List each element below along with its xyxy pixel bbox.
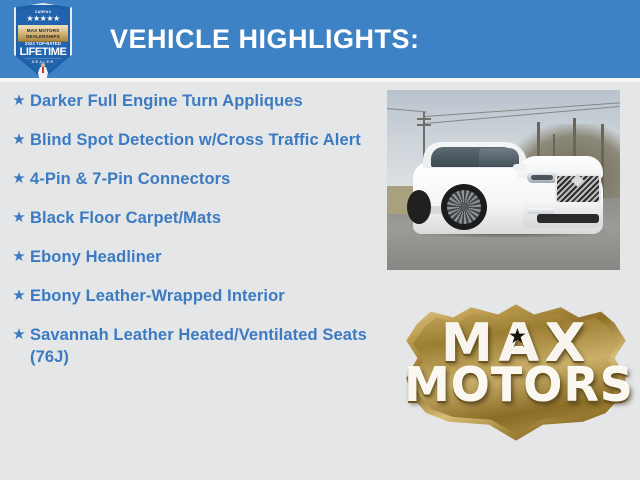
list-item-label: Ebony Leather-Wrapped Interior [30,285,380,307]
badge-ribbon: MAX MOTORS DEALERSHIPS [18,25,68,42]
logo-line-motors: MOTORS [404,362,628,408]
list-item: ★ Black Floor Carpet/Mats [8,207,380,229]
badge-dealer-name-line1: MAX MOTORS [18,28,68,33]
star-bullet-icon: ★ [8,246,30,268]
list-item: ★ Savannah Leather Heated/Ventilated Sea… [8,324,380,368]
photo-car-windshield [479,148,519,166]
list-item-label: Darker Full Engine Turn Appliques [30,90,380,112]
badge-dealer-name-line2: DEALERSHIPS [18,34,68,39]
star-bullet-icon: ★ [8,324,30,346]
list-item-label: Black Floor Carpet/Mats [30,207,380,229]
badge-person-tie [42,67,44,73]
five-stars-icon: ★★★★★ [14,15,72,23]
list-item: ★ 4-Pin & 7-Pin Connectors [8,168,380,190]
carfax-lifetime-dealer-badge: CARFAX ★★★★★ MAX MOTORS DEALERSHIPS 2023… [14,3,72,81]
badge-person-head [41,63,45,67]
page-title: VEHICLE HIGHLIGHTS: [110,24,420,55]
photo-car-mirror [513,164,527,171]
star-bullet-icon: ★ [8,207,30,229]
badge-person-icon [37,63,49,79]
list-item-label: Blind Spot Detection w/Cross Traffic Ale… [30,129,380,151]
photo-car-headlight-lens [531,175,553,180]
list-item: ★ Darker Full Engine Turn Appliques [8,90,380,112]
star-bullet-icon: ★ [8,90,30,112]
vehicle-highlights-list: ★ Darker Full Engine Turn Appliques ★ Bl… [8,90,380,385]
photo-pole-crossarm [417,124,431,126]
star-bullet-icon: ★ [8,168,30,190]
logo-star-icon: ★ [508,326,527,347]
list-item: ★ Ebony Leather-Wrapped Interior [8,285,380,307]
photo-car-fog-light [527,208,555,214]
max-motors-logo: MAX ★ MOTORS [404,300,628,445]
photo-car-rear-wheel [407,190,431,224]
badge-award-label: LIFETIME [14,47,72,58]
star-bullet-icon: ★ [8,129,30,151]
photo-car-wheel-hub [459,202,469,212]
list-item-label: Ebony Headliner [30,246,380,268]
list-item: ★ Ebony Headliner [8,246,380,268]
header-divider [0,78,640,82]
vehicle-photo [387,90,620,270]
photo-pole-crossarm [417,118,431,120]
list-item-label: 4-Pin & 7-Pin Connectors [30,168,380,190]
list-item-label: Savannah Leather Heated/Ventilated Seats… [30,324,380,368]
star-bullet-icon: ★ [8,285,30,307]
photo-car-bumper-vent [537,214,599,223]
list-item: ★ Blind Spot Detection w/Cross Traffic A… [8,129,380,151]
